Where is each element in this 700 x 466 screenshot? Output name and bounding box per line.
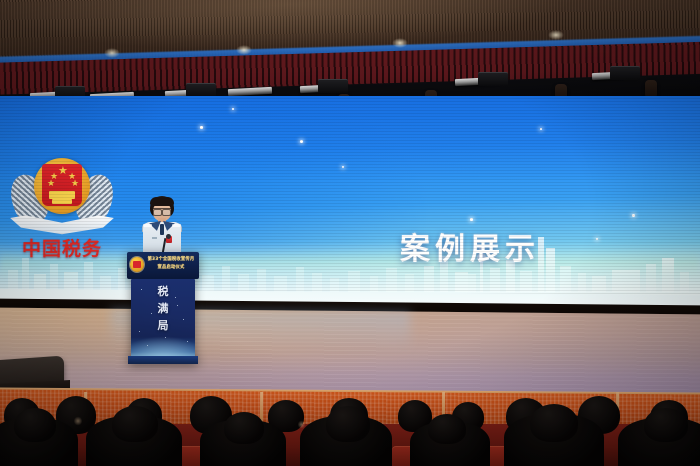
audience-head — [224, 412, 264, 444]
microphone-head — [166, 234, 171, 239]
ceiling-downlight-glow — [392, 38, 408, 48]
podium-header-line2: 宣品启动仪式 — [146, 264, 196, 271]
led-scanline-overlay — [0, 96, 700, 306]
led-presentation-screen: ★ ★ ★ ★ ★ 中国税务 案例展示 第二稽查局 林沁梓 — [0, 96, 700, 306]
stage-light-housing — [610, 66, 640, 80]
audience-head — [644, 408, 688, 442]
presenter-epaulet-right — [172, 224, 181, 227]
presenter-epaulet-left — [143, 224, 152, 227]
presenter-nameplate — [152, 237, 157, 239]
podium-header-panel: 第33个全国税收宣传月 宣品启动仪式 — [127, 252, 199, 279]
stage-light-housing — [478, 72, 508, 86]
podium-calligraphy: 税满局 — [131, 283, 195, 334]
presenter-fringe — [150, 197, 174, 206]
taxation-badge — [130, 257, 144, 272]
ceiling-downlight-glow — [548, 30, 564, 40]
podium-body: 税满局 — [131, 279, 195, 362]
stage-light-housing — [318, 79, 348, 93]
speaker-podium: 第33个全国税收宣传月 宣品启动仪式 税满局 — [131, 252, 195, 362]
ceiling-downlight-glow — [104, 48, 120, 58]
audience-head — [14, 408, 56, 442]
audience-head — [428, 414, 466, 444]
podium-base — [128, 356, 198, 364]
ceiling-downlight-glow — [236, 45, 252, 55]
presenter-glasses — [153, 208, 171, 214]
stage-photo-scene: ★ ★ ★ ★ ★ 中国税务 案例展示 第二稽查局 林沁梓 — [0, 0, 700, 466]
podium-header-line1: 第33个全国税收宣传月 — [146, 256, 196, 263]
presenter-tie — [160, 224, 164, 235]
audience-highlight — [74, 416, 82, 426]
stage-light-housing — [186, 83, 216, 97]
audience-head — [530, 404, 578, 442]
audience-head — [326, 406, 370, 442]
audience-head — [112, 406, 158, 442]
